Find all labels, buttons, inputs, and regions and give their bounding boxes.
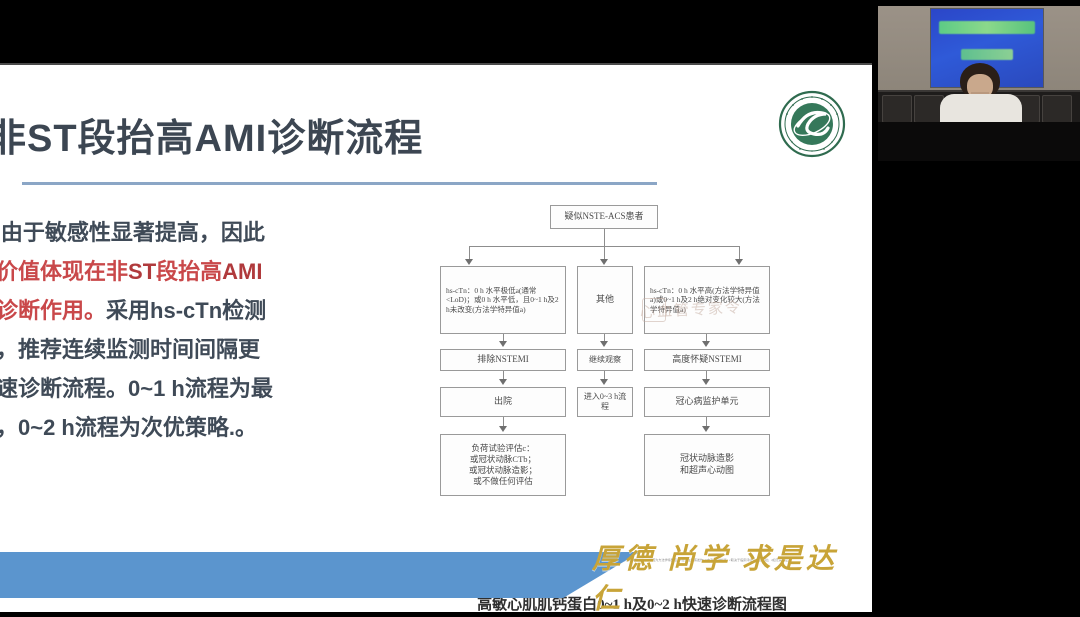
projection-text-line-2	[961, 49, 1013, 60]
flow-criteria-middle: 其他	[577, 266, 633, 334]
flow-criteria-left: hs-cTn：0 h 水平极低a(通常<LoD)；或0 h 水平低，且0~1 h…	[440, 266, 566, 334]
body-seg-4: 段抬高	[156, 259, 222, 284]
speaker-video-panel[interactable]	[872, 0, 1080, 617]
flow-step3-left: 出院	[440, 387, 566, 417]
chair	[882, 95, 912, 123]
speaker-video-feed[interactable]	[878, 6, 1080, 161]
body-line-6: 略，0~2 h流程为次优策略.。	[0, 408, 374, 447]
flow-step4-right-label: 冠状动脉造影 和超声心动图	[677, 453, 737, 476]
letterbox-bar-bottom	[0, 612, 872, 617]
flow-root-box: 疑似NSTE-ACS患者	[550, 205, 658, 229]
flow-criteria-middle-label: 其他	[593, 294, 617, 306]
flow-step3-middle: 进入0~3 h流程	[577, 387, 633, 417]
flow-arrow-left-3	[499, 379, 507, 385]
flow-arrow-mid-1	[600, 259, 608, 265]
flow-step2-middle: 继续观察	[577, 349, 633, 371]
body-seg-1: 由于敏感性显著提高，因此	[1, 220, 265, 245]
flow-arrow-left-4	[499, 426, 507, 432]
flow-root-label: 疑似NSTE-ACS患者	[561, 211, 646, 223]
flow-step3-right-label: 冠心病监护单元	[672, 396, 741, 408]
flow-arrow-right-2	[702, 341, 710, 347]
flow-arrow-left-2	[499, 341, 507, 347]
body-seg-3: ST	[128, 259, 156, 284]
page-title: 非ST段抬高AMI诊断流程	[0, 107, 688, 162]
screen-share-stage: 非ST段抬高AMI诊断流程	[0, 0, 1080, 617]
university-seal-logo	[778, 90, 846, 158]
presentation-slide: 非ST段抬高AMI诊断流程	[0, 65, 872, 616]
slide-footer-banner	[0, 552, 640, 598]
slide-content: 非ST段抬高AMI诊断流程	[0, 65, 872, 616]
body-seg-2: 大价值体现在非	[0, 259, 128, 284]
body-line-3: 除诊断作用。采用hs-cTn检测	[0, 291, 374, 330]
body-seg-6: 除诊断作用。	[0, 298, 106, 323]
flow-arrow-right-1	[735, 259, 743, 265]
body-seg-7: 采用hs-cTn检测	[106, 298, 266, 323]
slide-motto: 厚德 尚学 求是达仁	[592, 554, 862, 600]
body-seg-9: 快速诊断流程。0~1 h流程为最	[0, 376, 273, 401]
flow-step4-left-label: 负荷试验评估c： 或冠状动脉CTb； 或冠状动脉造影； 或不做任何评估	[466, 443, 540, 487]
chair	[1042, 95, 1072, 123]
letterbox-edge-line	[0, 63, 872, 65]
flow-step2-right-label: 高度怀疑NSTEMI	[669, 354, 745, 366]
body-seg-8: 后，推荐连续监测时间间隔更	[0, 337, 260, 362]
body-line-2: 大价值体现在非ST段抬高AMI	[0, 252, 374, 291]
flow-arrow-mid-2	[600, 341, 608, 347]
flow-arrow-mid-3	[600, 379, 608, 385]
flow-step4-left: 负荷试验评估c： 或冠状动脉CTb； 或冠状动脉造影； 或不做任何评估	[440, 434, 566, 496]
flow-step2-middle-label: 继续观察	[586, 355, 624, 365]
slide-body-text: Tn由于敏感性显著提高，因此 大价值体现在非ST段抬高AMI 除诊断作用。采用h…	[0, 213, 374, 447]
flow-arrow-right-3	[702, 379, 710, 385]
flow-step4-right: 冠状动脉造影 和超声心动图	[644, 434, 770, 496]
flow-step2-left-label: 排除NSTEMI	[474, 354, 532, 366]
flow-step3-middle-label: 进入0~3 h流程	[578, 392, 632, 412]
flow-step3-right: 冠心病监护单元	[644, 387, 770, 417]
title-underline-rule	[22, 182, 657, 185]
flow-step2-left: 排除NSTEMI	[440, 349, 566, 371]
flow-step3-left-label: 出院	[491, 396, 515, 408]
flow-arrow-right-4	[702, 426, 710, 432]
diagnostic-flowchart: 疑似NSTE-ACS患者 hs-cTn：0 h 水平极低a(通常<LoD)；或0…	[432, 205, 772, 555]
flow-line-root-stem	[604, 229, 605, 246]
letterbox-bar-top	[0, 0, 872, 64]
body-seg-5: AMI	[222, 259, 262, 284]
flow-step2-right: 高度怀疑NSTEMI	[644, 349, 770, 371]
projection-text-line-1	[939, 21, 1035, 34]
body-seg-10: 略，0~2 h流程为次优策略.。	[0, 415, 257, 440]
conference-table	[878, 122, 1080, 161]
flow-criteria-left-label: hs-cTn：0 h 水平极低a(通常<LoD)；或0 h 水平低，且0~1 h…	[441, 286, 565, 315]
body-line-5: 快速诊断流程。0~1 h流程为最	[0, 369, 374, 408]
body-line-4: 后，推荐连续监测时间间隔更	[0, 330, 374, 369]
body-line-1: Tn由于敏感性显著提高，因此	[0, 213, 374, 252]
flow-arrow-left-1	[465, 259, 473, 265]
